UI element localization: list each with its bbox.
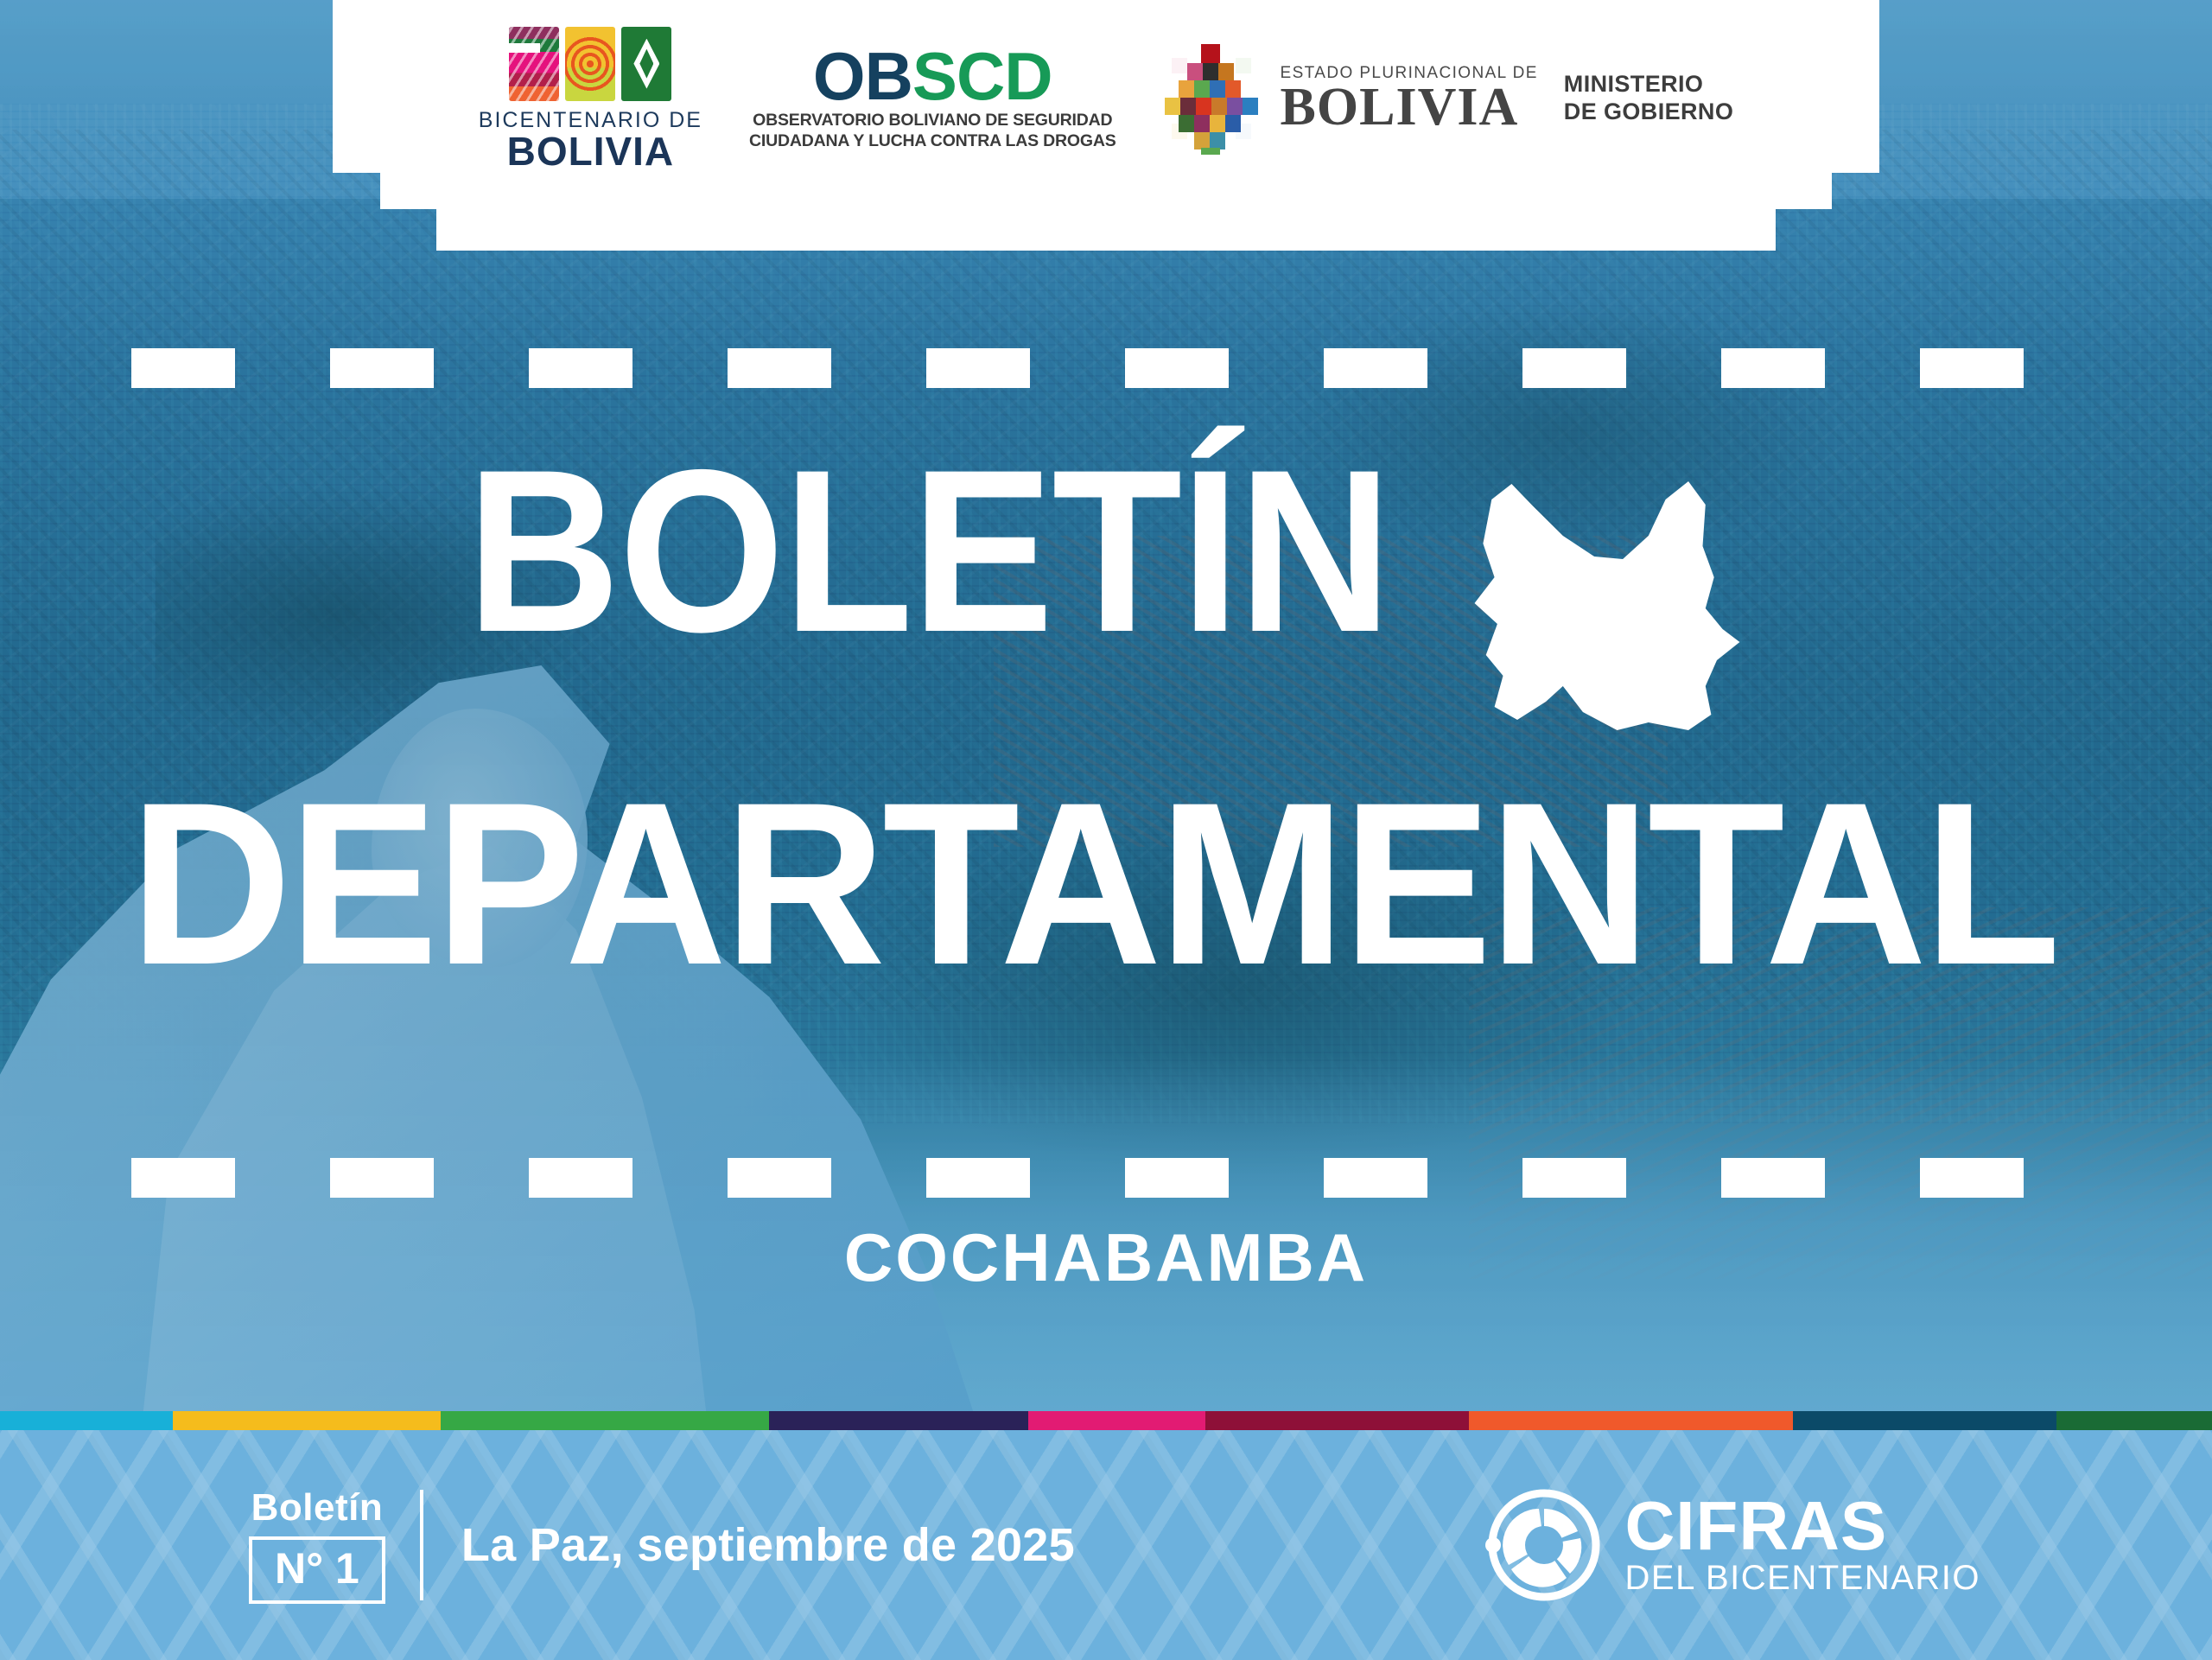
cover-page: BICENTENARIO DE BOLIVIA OBSCD OBSERVATOR… xyxy=(0,0,2212,1660)
bicentenario-glyph-0-spiral-icon xyxy=(565,27,615,101)
ministry-line1: MINISTERIO xyxy=(1564,71,1733,99)
stripe-segment xyxy=(1469,1411,1793,1430)
logo-obscd: OBSCD OBSERVATORIO BOLIVIANO DE SEGURIDA… xyxy=(749,46,1116,152)
logo-cifras-del-bicentenario: CIFRAS DEL BICENTENARIO xyxy=(1485,1486,1980,1604)
chakana-cross-icon xyxy=(1160,42,1263,155)
bicentenario-glyph-0-diamond-icon xyxy=(621,27,671,101)
page-title-line2: DEPARTAMENTAL xyxy=(130,782,2057,986)
stripe-segment xyxy=(0,1411,173,1430)
logo-ministerio-gobierno: ESTADO PLURINACIONAL DE BOLIVIA MINISTER… xyxy=(1160,42,1734,155)
stripe-segment xyxy=(1793,1411,2056,1430)
bulletin-badge: Boletín N° 1 xyxy=(249,1486,385,1604)
cifras-donut-icon xyxy=(1485,1486,1603,1604)
stripe-segment xyxy=(1028,1411,1205,1430)
obscd-acronym: OBSCD xyxy=(813,46,1052,106)
obscd-subtitle: OBSERVATORIO BOLIVIANO DE SEGURIDAD CIUD… xyxy=(749,111,1116,152)
bolivia-wordmark: BOLIVIA xyxy=(1281,83,1538,132)
bulletin-number: N° 1 xyxy=(249,1536,385,1604)
cifras-title: CIFRAS xyxy=(1625,1493,1980,1559)
stripe-segment xyxy=(441,1411,769,1430)
page-title-line1: BOLETÍN xyxy=(467,449,1390,653)
obscd-subtitle-line1: OBSERVATORIO BOLIVIANO DE SEGURIDAD xyxy=(749,111,1116,131)
cifras-subtitle: DEL BICENTENARIO xyxy=(1625,1559,1980,1598)
vertical-divider xyxy=(420,1490,423,1600)
footer-bar: Boletín N° 1 La Paz, septiembre de 2025 … xyxy=(0,1430,2212,1660)
bicentenario-line2: BOLIVIA xyxy=(507,133,675,171)
department-name: COCHABAMBA xyxy=(0,1218,2212,1297)
color-stripe xyxy=(0,1411,2212,1430)
dashed-rule-bottom xyxy=(131,1158,2110,1198)
logo-row: BICENTENARIO DE BOLIVIA OBSCD OBSERVATOR… xyxy=(0,29,2212,168)
stripe-segment xyxy=(1205,1411,1469,1430)
bicentenario-glyph-2-icon xyxy=(509,27,559,101)
obscd-subtitle-line2: CIUDADANA Y LUCHA CONTRA LAS DROGAS xyxy=(749,131,1116,152)
stripe-segment xyxy=(2056,1411,2212,1430)
ministry-name: MINISTERIO DE GOBIERNO xyxy=(1564,71,1733,126)
place-date: La Paz, septiembre de 2025 xyxy=(461,1518,1075,1572)
stripe-segment xyxy=(769,1411,1028,1430)
logo-bicentenario: BICENTENARIO DE BOLIVIA xyxy=(479,27,702,171)
ministry-line2: DE GOBIERNO xyxy=(1564,99,1733,126)
stripe-segment xyxy=(173,1411,441,1430)
ministerio-wordmark: ESTADO PLURINACIONAL DE BOLIVIA MINISTER… xyxy=(1281,64,1734,132)
bulletin-label: Boletín xyxy=(249,1486,385,1530)
bicentenario-mark-icon xyxy=(509,27,671,101)
dashed-rule-top xyxy=(131,348,2110,388)
